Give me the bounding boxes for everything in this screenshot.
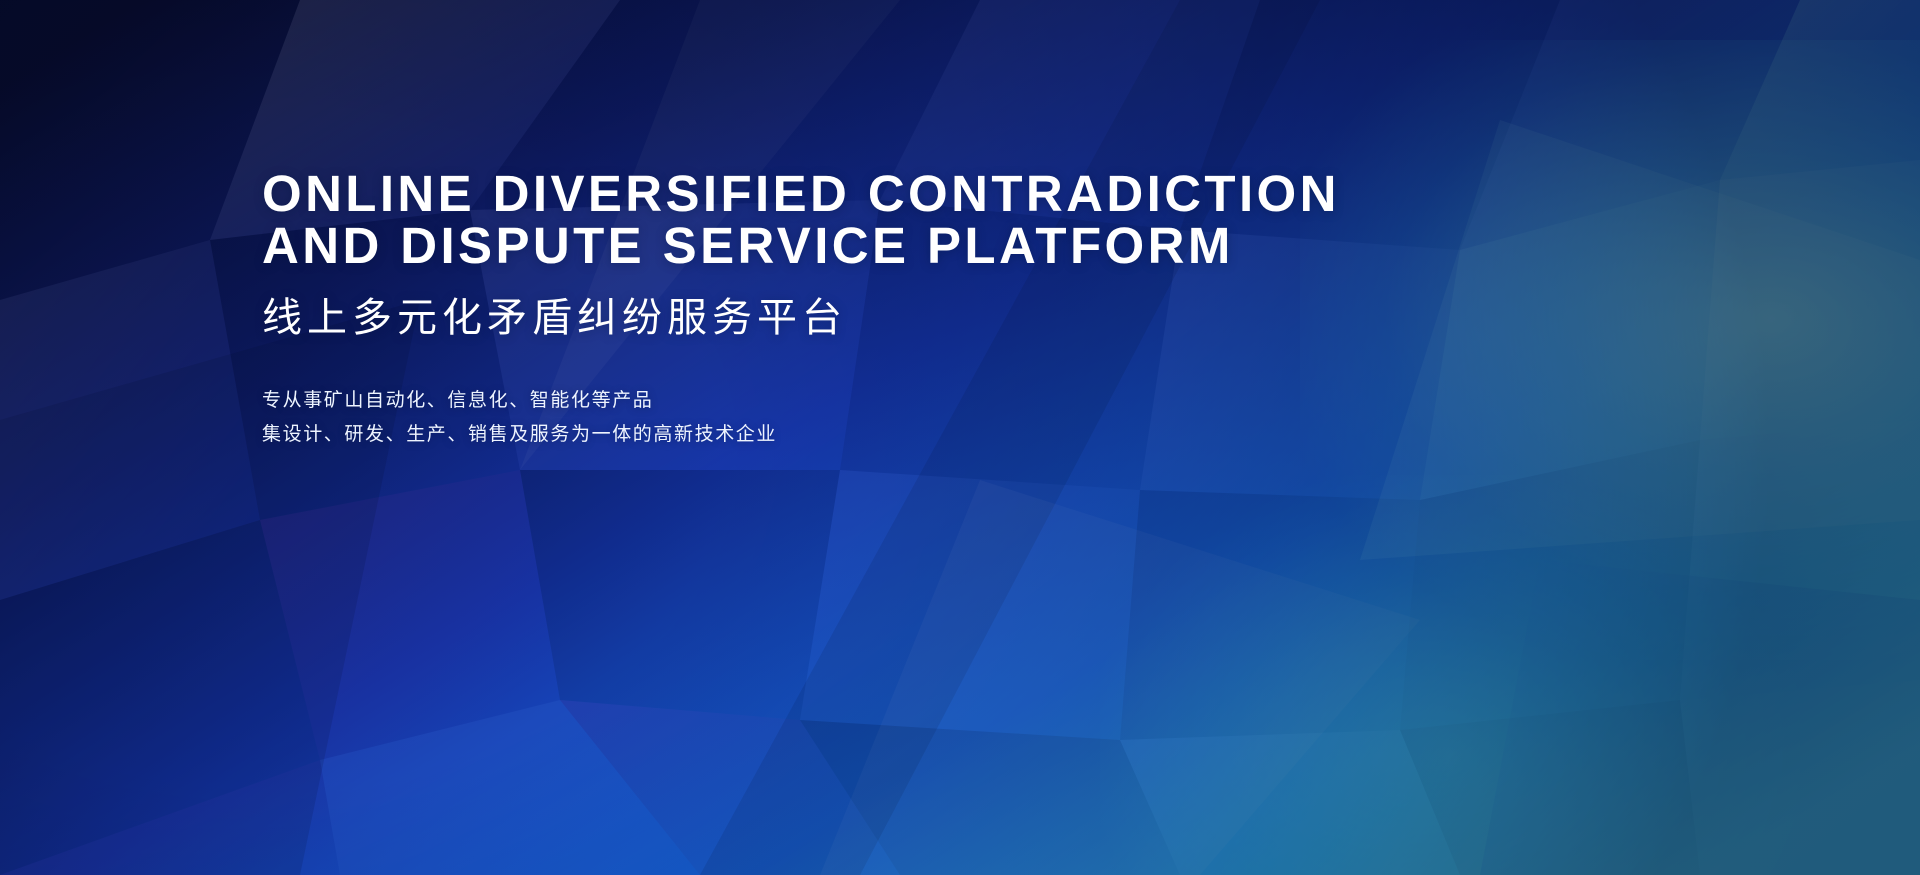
banner-headline-english: ONLINE DIVERSIFIED CONTRADICTION AND DIS… bbox=[262, 168, 1382, 272]
description-line-2: 集设计、研发、生产、销售及服务为一体的高新技术企业 bbox=[262, 418, 1382, 452]
hero-banner: ONLINE DIVERSIFIED CONTRADICTION AND DIS… bbox=[0, 0, 1920, 875]
headline-line-1: ONLINE DIVERSIFIED CONTRADICTION bbox=[262, 168, 1382, 220]
banner-description: 专从事矿山自动化、信息化、智能化等产品 集设计、研发、生产、销售及服务为一体的高… bbox=[262, 384, 1382, 452]
headline-line-2: AND DISPUTE SERVICE PLATFORM bbox=[262, 220, 1382, 272]
description-line-1: 专从事矿山自动化、信息化、智能化等产品 bbox=[262, 384, 1382, 418]
banner-subheadline-chinese: 线上多元化矛盾纠纷服务平台 bbox=[262, 290, 1382, 346]
banner-content: ONLINE DIVERSIFIED CONTRADICTION AND DIS… bbox=[262, 168, 1382, 452]
